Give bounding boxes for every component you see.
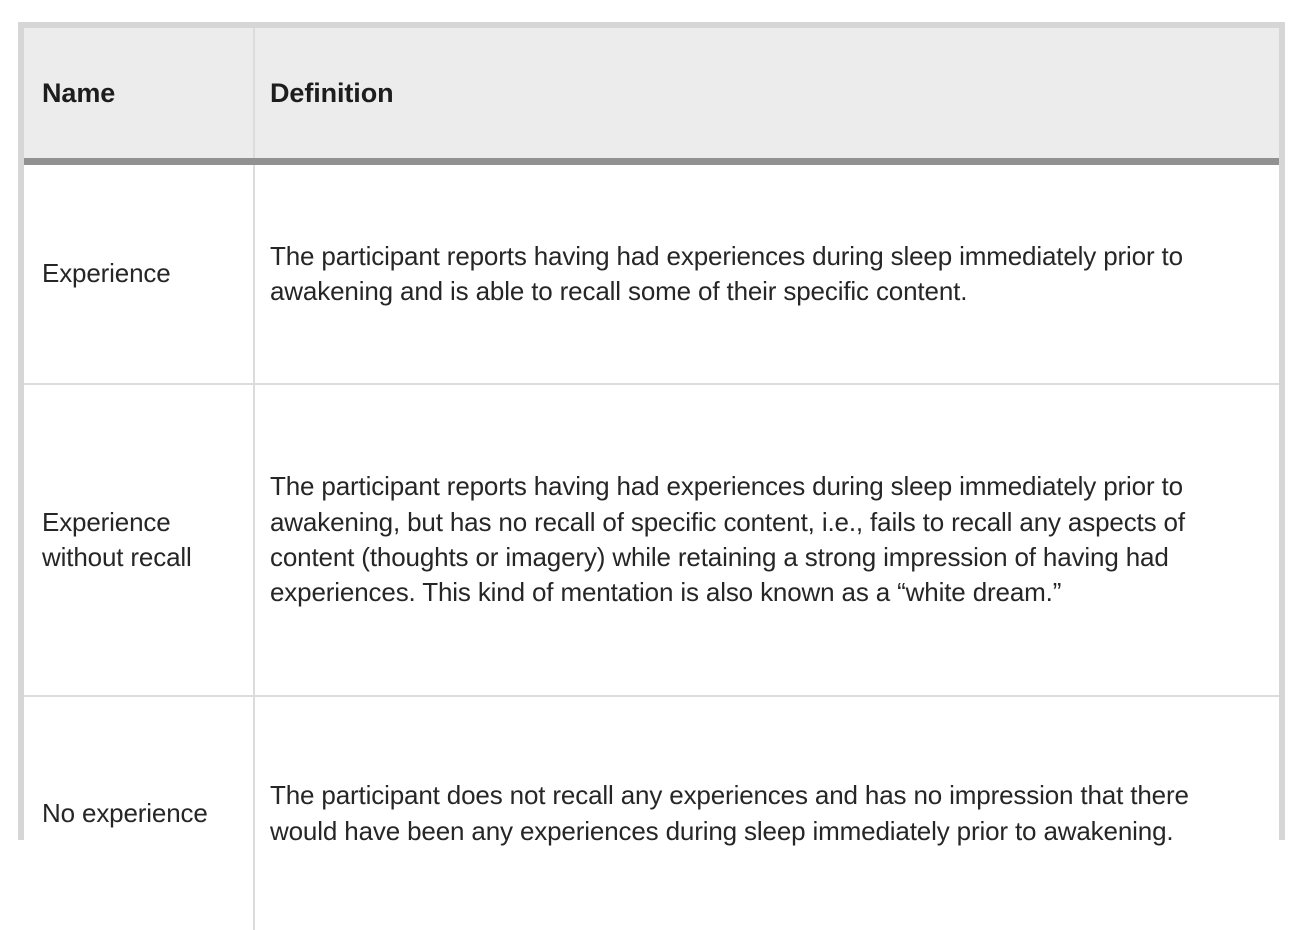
table-row: Experience The participant reports havin… [24, 162, 1279, 385]
cell-name: Experience [24, 162, 254, 385]
cell-name: Experience without recall [24, 384, 254, 696]
table-header: Name Definition [24, 28, 1279, 162]
column-header-name: Name [24, 28, 254, 162]
cell-name: No experience [24, 696, 254, 930]
definition-table: Name Definition Experience The participa… [24, 28, 1279, 930]
table-row: No experience The participant does not r… [24, 696, 1279, 930]
definition-table-frame: Name Definition Experience The participa… [18, 22, 1285, 840]
cell-definition: The participant reports having had exper… [254, 162, 1279, 385]
cell-definition: The participant reports having had exper… [254, 384, 1279, 696]
column-header-definition: Definition [254, 28, 1279, 162]
table-body: Experience The participant reports havin… [24, 162, 1279, 930]
table-header-row: Name Definition [24, 28, 1279, 162]
cell-definition: The participant does not recall any expe… [254, 696, 1279, 930]
table-row: Experience without recall The participan… [24, 384, 1279, 696]
